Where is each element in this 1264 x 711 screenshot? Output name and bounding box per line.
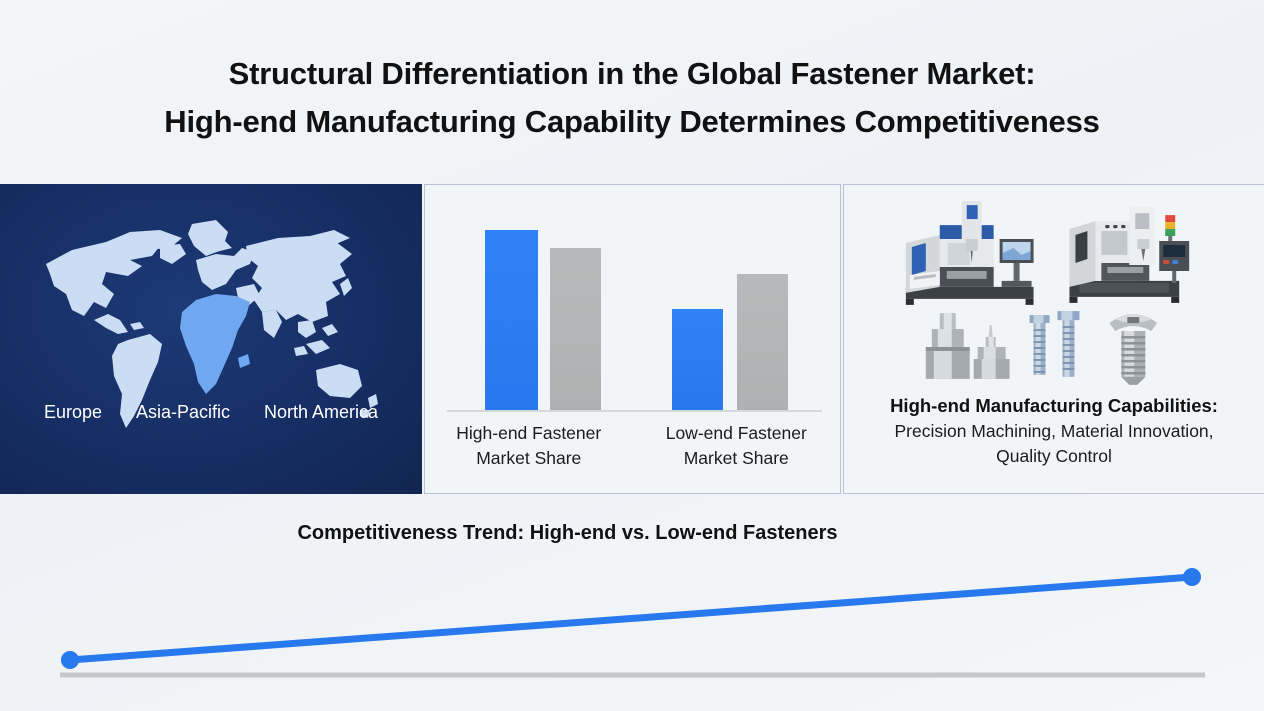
market-share-bar-chart-panel: High-end Fastener Market Share Low-end F…: [424, 184, 841, 494]
manufacturing-capabilities-panel: High-end Manufacturing Capabilities: Pre…: [843, 184, 1264, 494]
trend-marker-end: [1183, 568, 1201, 586]
bar-label-low-end-line2: Market Share: [633, 446, 841, 471]
precision-bushing-small-icon: [974, 325, 1010, 379]
region-label-list: Europe Asia-Pacific North America: [0, 402, 422, 423]
title-line-2: High-end Manufacturing Capability Determ…: [0, 98, 1264, 146]
capabilities-heading: High-end Manufacturing Capabilities:: [844, 393, 1264, 419]
trend-chart-title: Competitiveness Trend: High-end vs. Low-…: [0, 522, 1135, 545]
bar-label-high-end: High-end Fastener Market Share: [425, 421, 633, 471]
page-title: Structural Differentiation in the Global…: [0, 50, 1264, 146]
bar-label-high-end-line1: High-end Fastener: [425, 421, 633, 446]
coordinate-measuring-machine-icon: [906, 201, 1034, 305]
machine-screw-pair-icon: [1030, 311, 1080, 377]
title-line-1: Structural Differentiation in the Global…: [0, 50, 1264, 98]
africa-highlight-region: [180, 294, 250, 394]
bar-label-low-end-line1: Low-end Fastener: [633, 421, 841, 446]
panel-row: Europe Asia-Pacific North America High-e…: [0, 184, 1264, 494]
bar-chart-baseline: [447, 410, 822, 412]
world-map-panel: Europe Asia-Pacific North America: [0, 184, 422, 494]
capabilities-text-block: High-end Manufacturing Capabilities: Pre…: [844, 393, 1264, 469]
bar-high-end-gray: [550, 248, 601, 411]
bar-high-end-blue: [485, 230, 538, 411]
competitiveness-trend-chart: [0, 555, 1264, 695]
bar-label-low-end: Low-end Fastener Market Share: [633, 421, 841, 471]
button-head-socket-screw-icon: [1109, 314, 1157, 385]
trend-line-series: [70, 577, 1192, 660]
capabilities-body-line-1: Precision Machining, Material Innovation…: [844, 419, 1264, 444]
cnc-milling-machine-icon: [1069, 207, 1189, 303]
bar-chart-category-labels: High-end Fastener Market Share Low-end F…: [425, 421, 840, 471]
precision-bushing-large-icon: [926, 313, 970, 379]
bar-low-end-blue: [672, 309, 723, 411]
fastener-illustration-group: [844, 307, 1264, 389]
region-label-asia-pacific: Asia-Pacific: [136, 402, 230, 423]
infographic-slide: { "title": { "line1": "Structural Differ…: [0, 0, 1264, 711]
trend-marker-start: [61, 651, 79, 669]
machine-illustration-group: [844, 195, 1264, 310]
bar-chart-plot-area: [425, 185, 840, 411]
bar-label-high-end-line2: Market Share: [425, 446, 633, 471]
bar-low-end-gray: [737, 274, 788, 411]
region-label-north-america: North America: [264, 402, 378, 423]
region-label-europe: Europe: [44, 402, 102, 423]
capabilities-body-line-2: Quality Control: [844, 444, 1264, 469]
